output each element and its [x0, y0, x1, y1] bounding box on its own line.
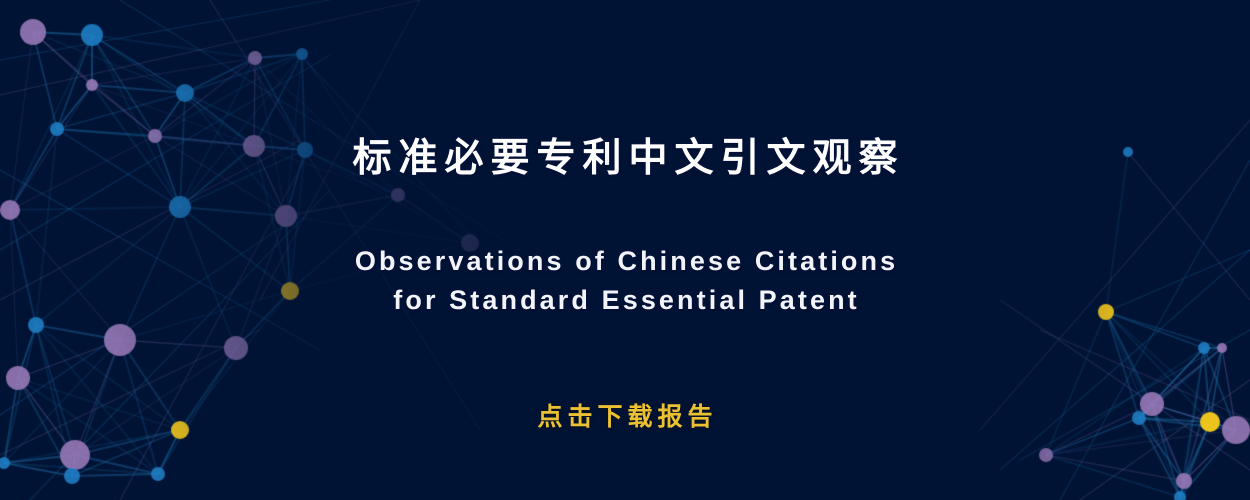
- subtitle-line-2: for Standard Essential Patent: [352, 281, 898, 320]
- download-report-button[interactable]: 点击下载报告: [526, 396, 723, 434]
- page-title-chinese: 标准必要专利中文引文观察: [345, 137, 904, 182]
- promo-banner: 标准必要专利中文引文观察 Observations of Chinese Cit…: [0, 0, 1250, 500]
- page-subtitle-english: Observations of Chinese Citations for St…: [352, 242, 898, 320]
- subtitle-line-1: Observations of Chinese Citations: [352, 242, 898, 281]
